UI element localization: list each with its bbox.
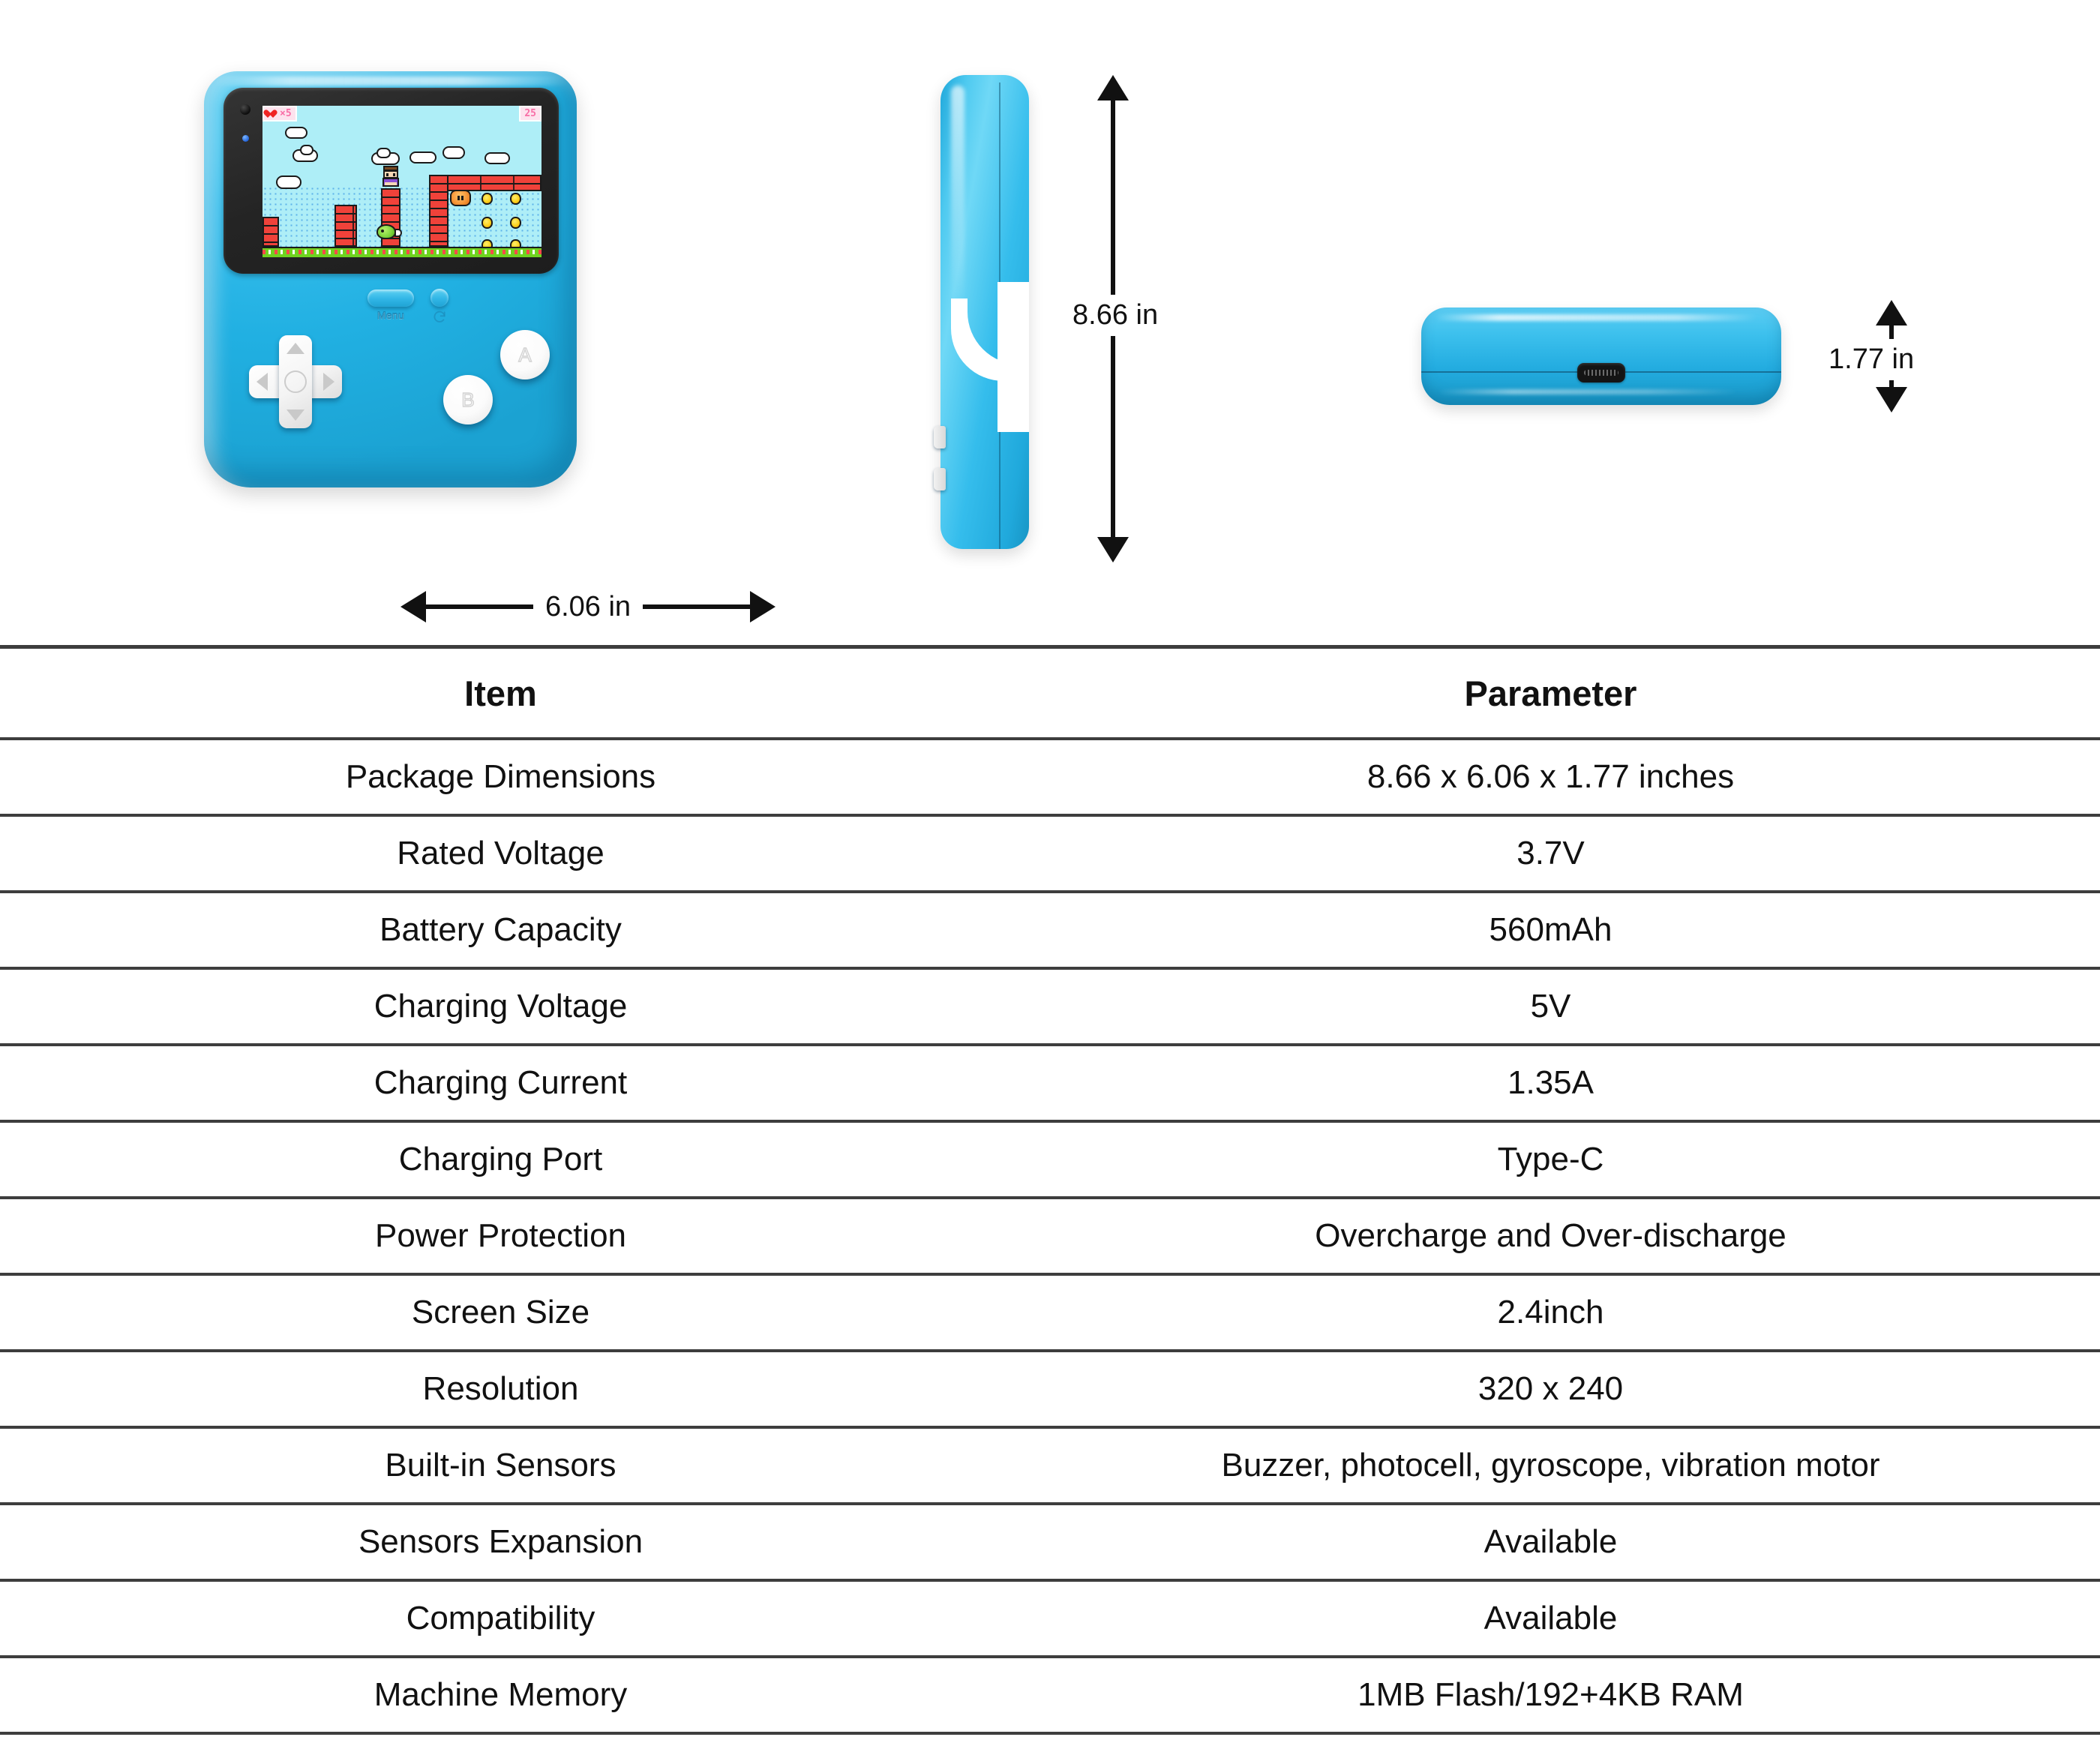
table-row: Screen Size2.4inch (0, 1274, 2100, 1351)
heart-icon (268, 109, 277, 118)
cell-parameter: Overcharge and Over-discharge (1001, 1198, 2100, 1274)
table-row: CompatibilityAvailable (0, 1580, 2100, 1657)
cell-parameter: 8.66 x 6.06 x 1.77 inches (1001, 739, 2100, 815)
dpad-up-icon[interactable] (286, 343, 304, 354)
screen-bezel: ×5 25 (223, 88, 559, 274)
table-row: Charging Current1.35A (0, 1045, 2100, 1121)
button-a-label: A (518, 343, 531, 367)
table-body: Package Dimensions8.66 x 6.06 x 1.77 inc… (0, 739, 2100, 1733)
cell-item: Charging Port (0, 1121, 1001, 1198)
cell-item: Charging Current (0, 1045, 1001, 1121)
coin-icon (481, 193, 493, 205)
usb-c-port-icon (1577, 363, 1625, 382)
table-row: Charging Voltage5V (0, 968, 2100, 1045)
cell-item: Resolution (0, 1351, 1001, 1427)
table-row: Package Dimensions8.66 x 6.06 x 1.77 inc… (0, 739, 2100, 815)
dpad-down-icon[interactable] (286, 409, 304, 421)
front-view-group: ×5 25 Menu (196, 71, 586, 551)
shoulder-button-bottom[interactable] (934, 468, 946, 490)
cloud-icon (285, 127, 307, 139)
hud-score-label: 25 (524, 109, 536, 118)
specifications-table: Item Parameter Package Dimensions8.66 x … (0, 645, 2100, 1735)
cell-parameter: Buzzer, photocell, gyroscope, vibration … (1001, 1427, 2100, 1504)
hud-score: 25 (519, 106, 541, 121)
player-character-sprite (382, 166, 399, 188)
column-header-parameter: Parameter (1001, 647, 2100, 739)
coin-icon (481, 217, 493, 229)
dpad-left-icon[interactable] (256, 373, 268, 391)
enemy-block-icon (450, 190, 471, 206)
coin-icon (510, 217, 521, 229)
button-a[interactable]: A (500, 330, 550, 379)
brick-platform (334, 205, 357, 247)
sensor-dot (240, 104, 250, 115)
table-row: Power ProtectionOvercharge and Over-disc… (0, 1198, 2100, 1274)
cell-item: Screen Size (0, 1274, 1001, 1351)
table-row: Resolution320 x 240 (0, 1351, 2100, 1427)
arrow-up-icon (1876, 300, 1907, 325)
arrow-right-icon (750, 591, 775, 622)
reset-button[interactable] (430, 289, 448, 307)
ground-terrain (262, 247, 541, 257)
table-row: Battery Capacity560mAh (0, 892, 2100, 968)
button-b[interactable]: B (443, 375, 493, 424)
table-row: Sensors ExpansionAvailable (0, 1504, 2100, 1580)
menu-button[interactable] (367, 289, 414, 307)
arrow-left-icon (400, 591, 426, 622)
brick-platform (429, 175, 448, 247)
cell-item: Battery Capacity (0, 892, 1001, 968)
cloud-icon (376, 148, 391, 158)
dimension-depth-label: 1.77 in (1821, 339, 1921, 380)
coin-icon (510, 193, 521, 205)
cell-item: Built-in Sensors (0, 1427, 1001, 1504)
dimension-line (643, 604, 750, 609)
hud-lives-label: ×5 (280, 109, 292, 118)
enemy-turtle-sprite (376, 224, 402, 241)
table-row: Rated Voltage3.7V (0, 815, 2100, 892)
arrow-down-icon (1876, 387, 1907, 412)
dpad-right-icon[interactable] (323, 373, 334, 391)
reset-icon (430, 310, 448, 325)
dimension-line (426, 604, 533, 609)
arrow-down-icon (1097, 537, 1129, 562)
cell-parameter: Available (1001, 1580, 2100, 1657)
table-row: Machine Memory1MB Flash/192+4KB RAM (0, 1657, 2100, 1733)
menu-button-label: Menu (367, 309, 414, 321)
cell-parameter: 1MB Flash/192+4KB RAM (1001, 1657, 2100, 1733)
cell-parameter: Type-C (1001, 1121, 2100, 1198)
dimension-width: 6.06 in (400, 589, 775, 625)
product-views-section: ×5 25 Menu (0, 0, 2100, 645)
grip-notch (997, 282, 1029, 432)
cell-parameter: 320 x 240 (1001, 1351, 2100, 1427)
cell-item: Power Protection (0, 1198, 1001, 1274)
cell-parameter: Available (1001, 1504, 2100, 1580)
console-top-body (1421, 307, 1781, 405)
cell-item: Charging Voltage (0, 968, 1001, 1045)
brick-platform (262, 217, 279, 247)
cell-parameter: 2.4inch (1001, 1274, 2100, 1351)
cloud-icon (300, 145, 313, 155)
cell-item: Machine Memory (0, 1657, 1001, 1733)
cloud-icon (484, 152, 510, 164)
cell-item: Sensors Expansion (0, 1504, 1001, 1580)
dpad-control[interactable] (249, 335, 342, 428)
shoulder-button-top[interactable] (934, 426, 946, 448)
cell-parameter: 3.7V (1001, 815, 2100, 892)
cloud-icon (276, 175, 301, 189)
cell-parameter: 5V (1001, 968, 2100, 1045)
cell-item: Compatibility (0, 1580, 1001, 1657)
button-b-label: B (461, 388, 474, 412)
cloud-icon (409, 151, 436, 163)
arrow-up-icon (1097, 75, 1129, 100)
table-header-row: Item Parameter (0, 647, 2100, 739)
console-front-body: ×5 25 Menu (204, 71, 577, 487)
console-side-body (940, 75, 1029, 549)
table-row: Charging PortType-C (0, 1121, 2100, 1198)
table-row: Built-in SensorsBuzzer, photocell, gyros… (0, 1427, 2100, 1504)
dpad-center-circle (284, 370, 307, 393)
game-screen: ×5 25 (262, 106, 541, 257)
cell-parameter: 1.35A (1001, 1045, 2100, 1121)
cell-parameter: 560mAh (1001, 892, 2100, 968)
cell-item: Package Dimensions (0, 739, 1001, 815)
dimension-height-label: 8.66 in (1065, 295, 1165, 336)
dimension-width-label: 6.06 in (533, 591, 643, 623)
cloud-icon (442, 146, 465, 159)
hud-lives: ×5 (262, 106, 297, 121)
power-led-icon (242, 135, 249, 142)
column-header-item: Item (0, 647, 1001, 739)
cell-item: Rated Voltage (0, 815, 1001, 892)
